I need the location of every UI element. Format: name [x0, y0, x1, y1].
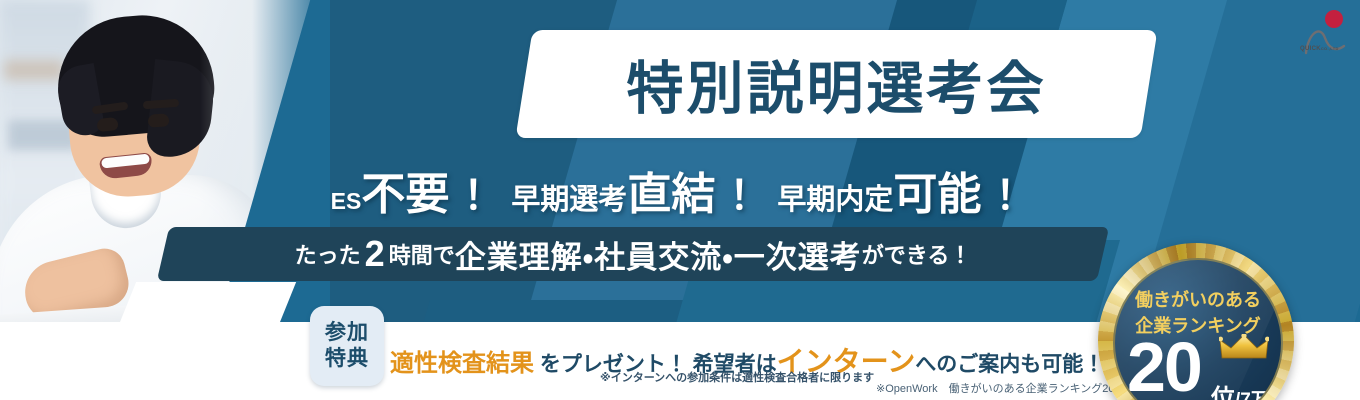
quick-logo-icon: [1298, 8, 1352, 60]
ranking-seal-line1: 働きがいのある: [1115, 286, 1281, 312]
subline-benefits: 企業理解・社員交流・一次選考: [455, 232, 862, 277]
bottom-copy-highlight-aptitude: 適性検査結果: [390, 350, 534, 377]
benefit-badge-line1: 参加: [325, 320, 369, 346]
ranking-seal-face: 働きがいのある 企業ランキング 20 位/7万社: [1113, 258, 1283, 400]
subline-prefix: たった: [295, 238, 361, 270]
crown-icon: [1219, 334, 1269, 360]
ranking-seal-unit-label: 位: [1211, 385, 1235, 400]
ranking-seal: 働きがいのある 企業ランキング 20 位/7万社: [1098, 243, 1294, 400]
headline-bang-3: ！: [981, 174, 1029, 218]
page-title: 特別説明選考会: [524, 30, 1149, 138]
bottom-copy-tail: へのご案内も可能！: [915, 353, 1104, 376]
subline-hours-unit: 時間で: [389, 238, 455, 270]
quick-logo-wordmark: QUICKCO.,LTD: [1300, 46, 1339, 52]
headline-not-required: 不要: [361, 170, 449, 219]
headline-benefits: ES不要！早期選考直結！早期内定可能！: [0, 158, 1360, 222]
openwork-source-note: ※OpenWork 働きがいのある企業ランキング2025: [876, 380, 1127, 396]
subline-text: たった2時間で企業理解・社員交流・一次選考ができる！: [163, 227, 1103, 281]
headline-es-label: ES: [331, 188, 362, 214]
subline-hours: 2: [361, 233, 389, 275]
promo-banner: 特別説明選考会 ES不要！早期選考直結！早期内定可能！ たった2時間で企業理解・…: [0, 0, 1360, 400]
headline-bang-2: ！: [715, 174, 763, 218]
headline-possible: 可能: [893, 170, 981, 219]
benefit-badge: 参加 特典: [310, 306, 384, 386]
quick-logo-suffix: CO.,LTD: [1321, 46, 1339, 51]
benefit-badge-line2: 特典: [325, 346, 369, 372]
ranking-seal-denominator: /7万社: [1235, 390, 1283, 400]
ranking-seal-unit: 位/7万社: [1211, 378, 1283, 400]
headline-early-offer: 早期内定: [777, 184, 893, 216]
subline-suffix: ができる！: [862, 238, 972, 270]
headline-direct: 直結: [627, 170, 715, 219]
bottom-disclaimer: ※インターンへの参加条件は適性検査合格者に限ります: [600, 369, 874, 385]
headline-bang-1: ！: [449, 174, 497, 218]
headline-early-selection: 早期選考: [511, 184, 627, 216]
ranking-seal-rank: 20: [1127, 332, 1201, 400]
bottom-strip-cut: [120, 282, 296, 322]
photo-background-object: [4, 60, 64, 80]
quick-logo-name: QUICK: [1300, 46, 1321, 52]
photo-person-eye: [148, 113, 170, 127]
